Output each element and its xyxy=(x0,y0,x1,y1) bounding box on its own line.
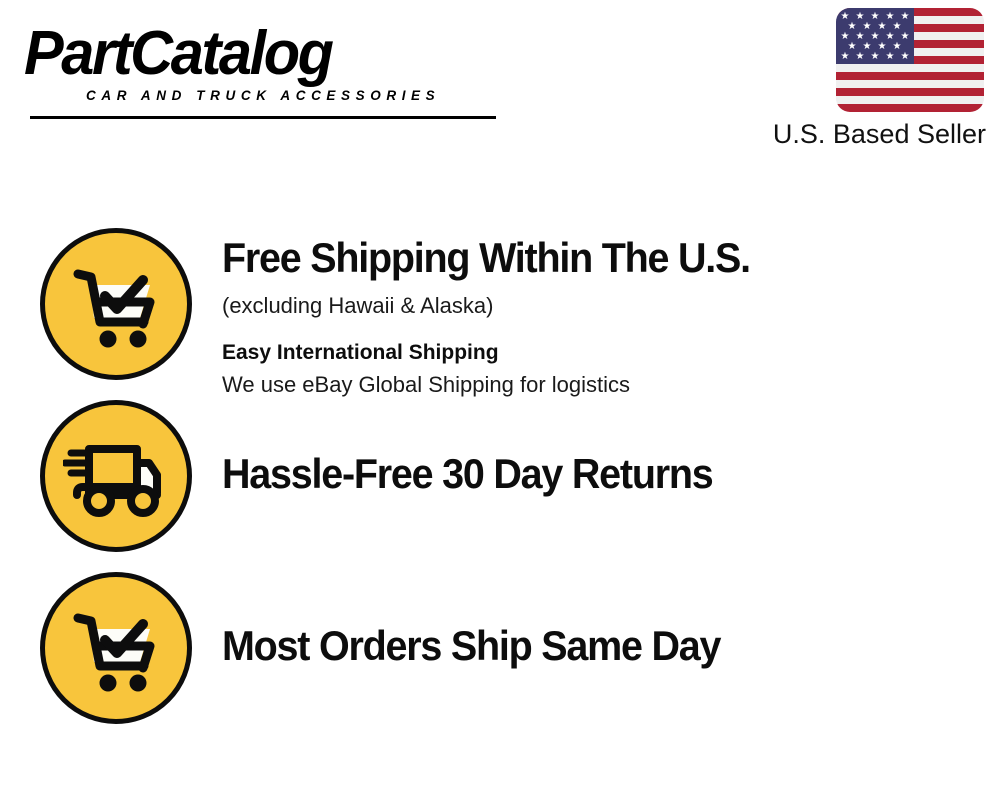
flag-stripe xyxy=(836,72,984,80)
seller-badge: ★ ★ ★ ★ ★ ★ ★ ★ ★ ★ ★ ★ ★ ★ ★ ★ ★ xyxy=(836,8,986,112)
flag-stripe xyxy=(836,104,984,112)
delivery-truck-icon xyxy=(40,400,192,552)
brand-logo: PartCatalog CAR AND TRUCK ACCESSORIES xyxy=(24,22,494,117)
seller-badge-caption: U.S. Based Seller xyxy=(773,118,986,150)
us-flag-icon: ★ ★ ★ ★ ★ ★ ★ ★ ★ ★ ★ ★ ★ ★ ★ ★ ★ xyxy=(836,8,984,112)
flag-stripe xyxy=(836,64,984,72)
feature-headline: Hassle-Free 30 Day Returns xyxy=(222,450,935,498)
feature-row: Hassle-Free 30 Day Returns xyxy=(40,400,980,552)
feature-text: Free Shipping Within The U.S. (excluding… xyxy=(192,228,980,400)
flag-stripe xyxy=(836,80,984,88)
shopping-cart-check-icon xyxy=(40,228,192,380)
feature-text: Hassle-Free 30 Day Returns xyxy=(192,400,980,498)
feature-headline: Most Orders Ship Same Day xyxy=(222,622,935,670)
brand-tagline: CAR AND TRUCK ACCESSORIES xyxy=(86,88,494,103)
feature-row: Free Shipping Within The U.S. (excluding… xyxy=(40,228,980,400)
feature-subtext-light: We use eBay Global Shipping for logistic… xyxy=(222,370,980,400)
banner-header: PartCatalog CAR AND TRUCK ACCESSORIES xyxy=(0,0,1000,175)
feature-row: Most Orders Ship Same Day xyxy=(40,572,980,724)
flag-stripe xyxy=(836,96,984,104)
flag-stripe xyxy=(836,88,984,96)
flag-canton: ★ ★ ★ ★ ★ ★ ★ ★ ★ ★ ★ ★ ★ ★ ★ ★ ★ xyxy=(836,8,914,64)
feature-text: Most Orders Ship Same Day xyxy=(192,572,980,670)
feature-headline: Free Shipping Within The U.S. xyxy=(222,234,935,282)
shopping-cart-check-icon xyxy=(40,572,192,724)
feature-subtext: (excluding Hawaii & Alaska) xyxy=(222,291,980,321)
brand-underline-rule xyxy=(30,116,496,119)
feature-subtext-bold: Easy International Shipping xyxy=(222,339,980,367)
promo-banner: PartCatalog CAR AND TRUCK ACCESSORIES xyxy=(0,0,1000,800)
brand-wordmark: PartCatalog xyxy=(24,22,475,86)
